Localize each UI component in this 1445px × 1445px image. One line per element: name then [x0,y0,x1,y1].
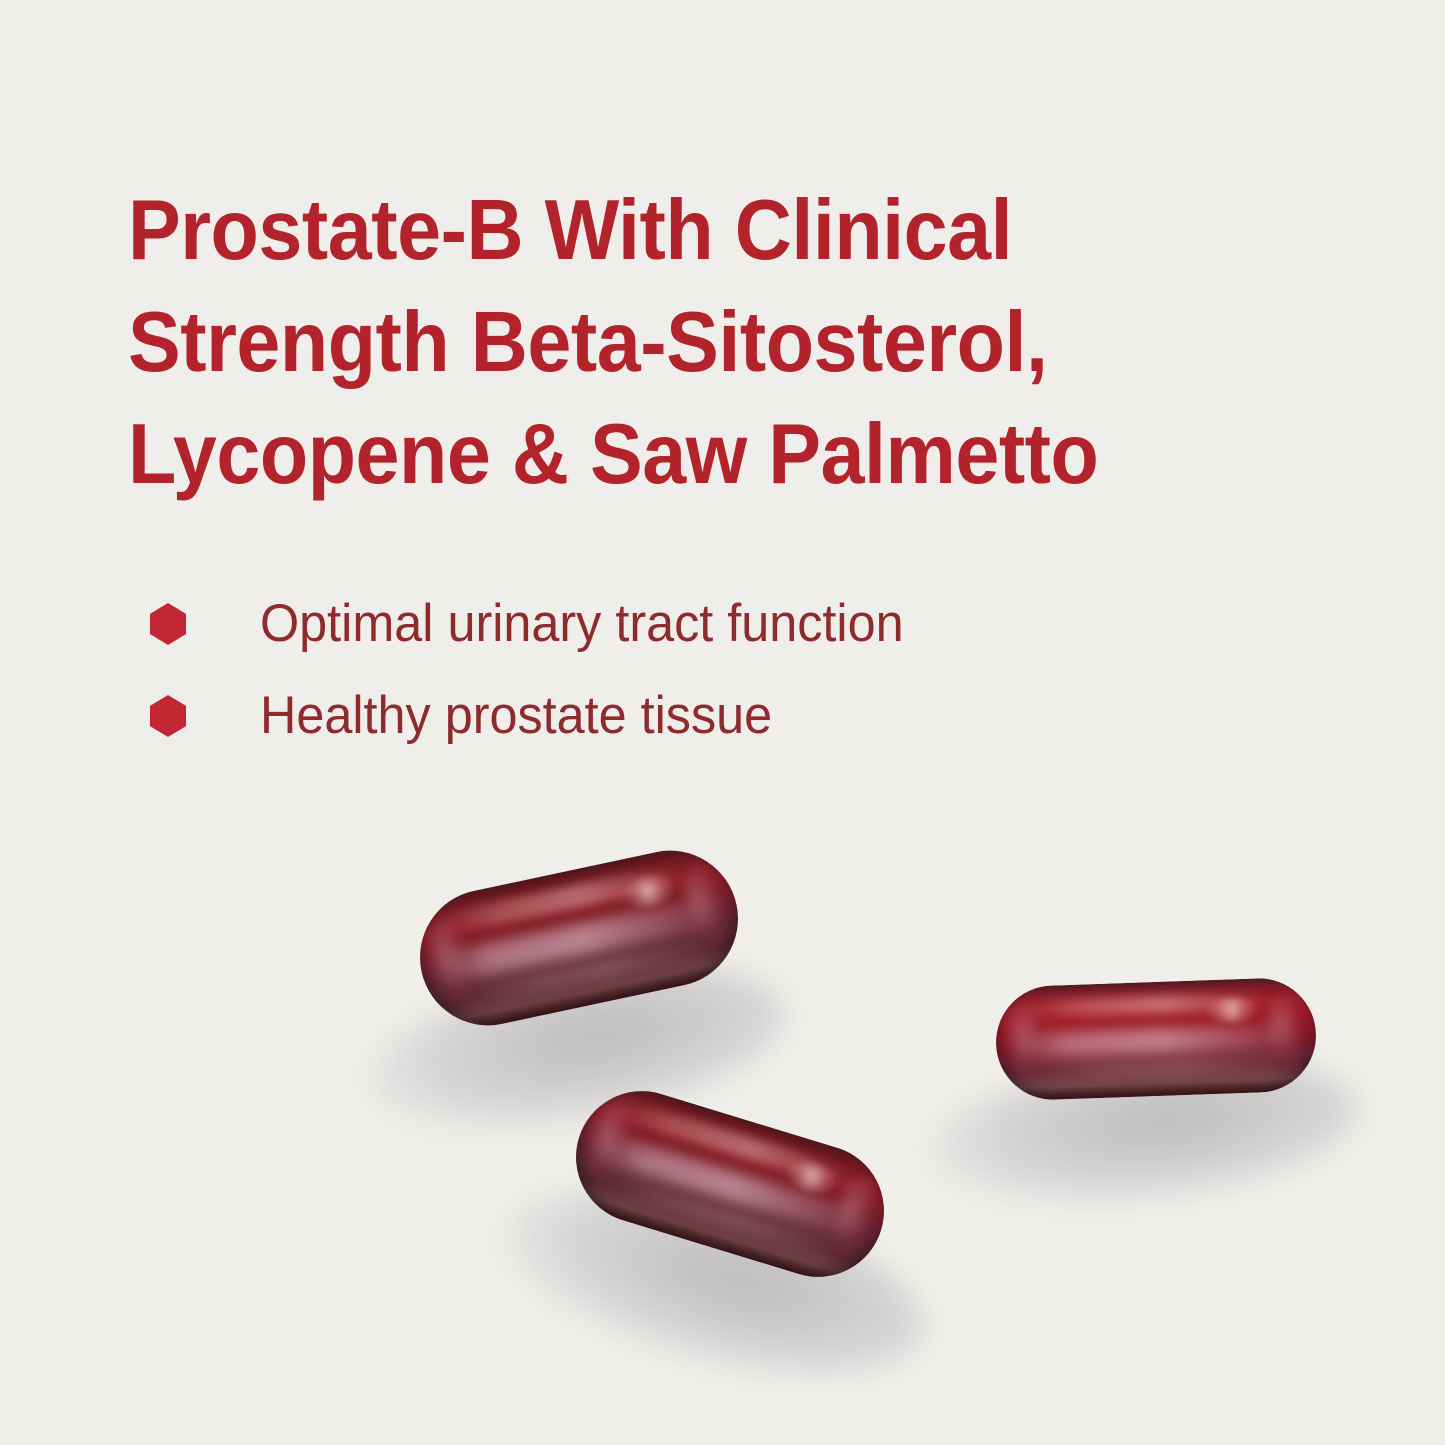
capsule-specular-dot [620,871,677,911]
product-photo [0,760,1445,1445]
capsule-highlight [1015,1023,1297,1059]
page-title: Prostate-B With Clinical Strength Beta-S… [128,175,1198,511]
capsule-highlight [1263,993,1307,1065]
benefit-label: Healthy prostate tissue [260,687,772,745]
capsule-highlight [1029,1058,1279,1080]
capsule-highlight [676,859,734,950]
capsule-highlight [438,895,722,984]
capsule-specular-dot [783,1156,840,1199]
capsule-highlight [421,913,479,1004]
product-marketing-card: Prostate-B With Clinical Strength Beta-S… [0,0,1445,1445]
benefit-label: Optimal urinary tract function [260,595,904,653]
benefits-list: Optimal urinary tract function Healthy p… [150,578,1250,762]
capsule-body [994,976,1318,1101]
list-item: Optimal urinary tract function [150,578,1250,670]
hexagon-bullet-icon [150,695,186,737]
capsule-specular-dot [1206,997,1258,1024]
hexagon-bullet-icon [150,603,186,645]
capsule-right [994,976,1318,1101]
list-item: Healthy prostate tissue [150,670,1250,762]
capsule-highlight [578,1095,641,1185]
capsule-highlight [1004,1002,1048,1074]
